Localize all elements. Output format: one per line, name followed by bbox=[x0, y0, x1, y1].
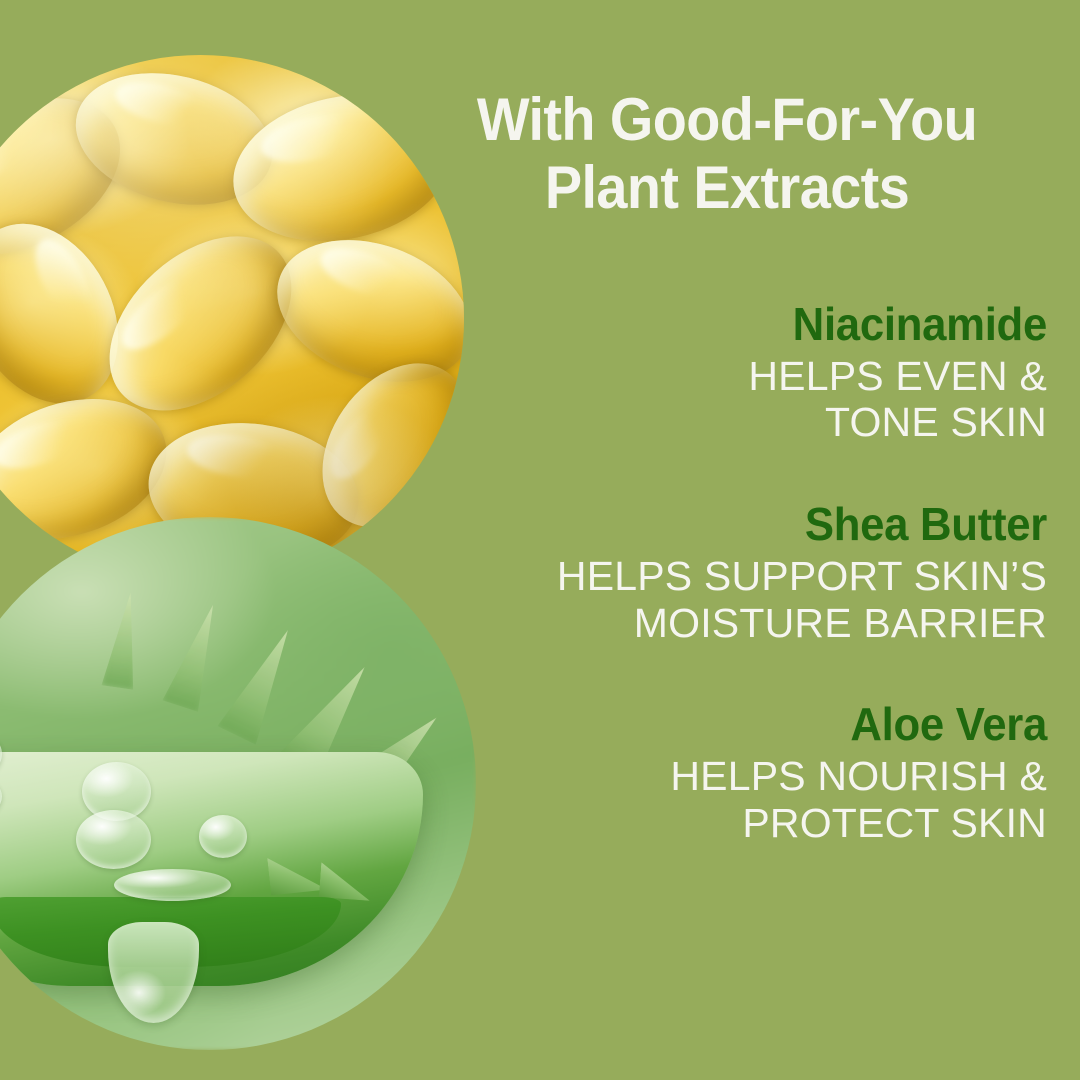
ingredient-description-line: HELPS EVEN & bbox=[347, 353, 1047, 400]
ingredient-description-line: PROTECT SKIN bbox=[347, 800, 1047, 847]
headline: With Good-For-You Plant Extracts bbox=[429, 86, 1024, 223]
ingredient-item-shea-butter: Shea Butter HELPS SUPPORT SKIN’S MOISTUR… bbox=[347, 500, 1047, 646]
water-droplet-icon bbox=[114, 869, 231, 901]
product-benefits-graphic: With Good-For-You Plant Extracts Niacina… bbox=[0, 0, 1080, 1080]
ingredient-description: HELPS EVEN & TONE SKIN bbox=[347, 353, 1047, 446]
ingredient-description: HELPS NOURISH & PROTECT SKIN bbox=[347, 753, 1047, 846]
ingredient-description-line: HELPS SUPPORT SKIN’S bbox=[347, 553, 1047, 600]
aloe-spike-icon bbox=[267, 852, 327, 895]
ingredient-name: Shea Butter bbox=[382, 500, 1047, 550]
headline-line-2: Plant Extracts bbox=[429, 154, 1024, 222]
capsule-icon bbox=[220, 76, 464, 261]
ingredient-item-aloe-vera: Aloe Vera HELPS NOURISH & PROTECT SKIN bbox=[347, 700, 1047, 846]
headline-line-1: With Good-For-You bbox=[429, 86, 1024, 154]
ingredient-description-line: HELPS NOURISH & bbox=[347, 753, 1047, 800]
ingredient-item-niacinamide: Niacinamide HELPS EVEN & TONE SKIN bbox=[347, 300, 1047, 446]
ingredient-description-line: TONE SKIN bbox=[347, 399, 1047, 446]
water-droplet-icon bbox=[199, 815, 247, 858]
water-droplet-icon bbox=[76, 810, 151, 869]
aloe-spike-icon bbox=[319, 862, 372, 901]
ingredient-name: Niacinamide bbox=[382, 300, 1047, 350]
ingredient-description-line: MOISTURE BARRIER bbox=[347, 600, 1047, 647]
ingredient-description: HELPS SUPPORT SKIN’S MOISTURE BARRIER bbox=[347, 553, 1047, 646]
ingredient-name: Aloe Vera bbox=[382, 700, 1047, 750]
ingredient-list: Niacinamide HELPS EVEN & TONE SKIN Shea … bbox=[347, 300, 1047, 846]
